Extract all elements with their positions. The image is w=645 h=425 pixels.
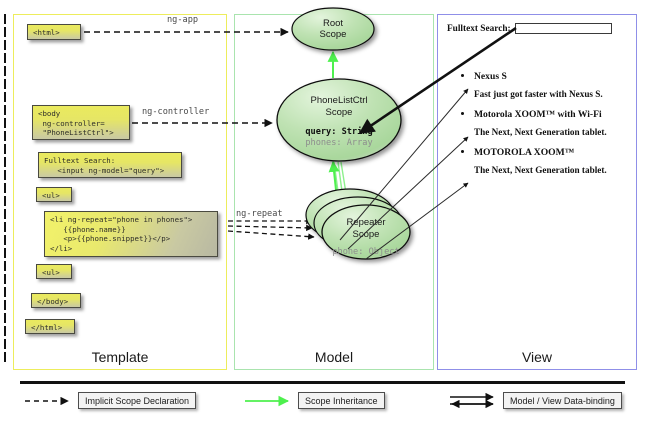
scope-ctrl-prop-phones: phones: Array	[305, 138, 372, 148]
scope-repeater-prop-phone: phone: Object	[332, 247, 399, 257]
legend-double-arrow-icon	[449, 393, 497, 409]
scope-ctrl-title-2: Scope	[326, 107, 353, 118]
legend: Implicit Scope Declaration Scope Inherit…	[0, 390, 645, 416]
scope-root-title-2: Scope	[320, 29, 347, 40]
edge-ng-controller: ng-controller	[132, 107, 272, 123]
scope-ctrl-title-1: PhoneListCtrl	[310, 95, 367, 106]
legend-label-implicit-scope-declaration: Implicit Scope Declaration	[78, 392, 196, 409]
edge-label-ng-repeat: ng-repeat	[236, 209, 283, 219]
scope-root-title-1: Root	[323, 18, 343, 29]
diagram-connectors: ng-app ng-controller ng-repeat Root Scop…	[0, 0, 645, 425]
edge-ng-repeat: ng-repeat	[228, 209, 314, 237]
legend-label-scope-inheritance: Scope Inheritance	[298, 392, 385, 409]
legend-label-model-view-data-binding: Model / View Data-binding	[503, 392, 622, 409]
legend-dashed-arrow-icon	[24, 395, 72, 407]
legend-item-model-view-data-binding: Model / View Data-binding	[449, 392, 622, 409]
diagram-canvas: Template Model View <html> <body ng-cont…	[0, 0, 645, 425]
scope-repeater-title-2: Scope	[353, 229, 380, 240]
legend-divider	[20, 381, 625, 384]
edge-query-databinding	[360, 28, 516, 133]
legend-green-arrow-icon	[244, 395, 292, 407]
edge-label-ng-app: ng-app	[167, 15, 198, 25]
scope-phonelistctrl	[277, 79, 401, 161]
scope-repeater-title-1: Repeater	[346, 217, 385, 228]
legend-item-scope-inheritance: Scope Inheritance	[244, 392, 385, 409]
edge-label-ng-controller: ng-controller	[142, 107, 209, 117]
legend-item-implicit-scope-declaration: Implicit Scope Declaration	[24, 392, 196, 409]
edge-ng-app: ng-app	[84, 15, 288, 32]
